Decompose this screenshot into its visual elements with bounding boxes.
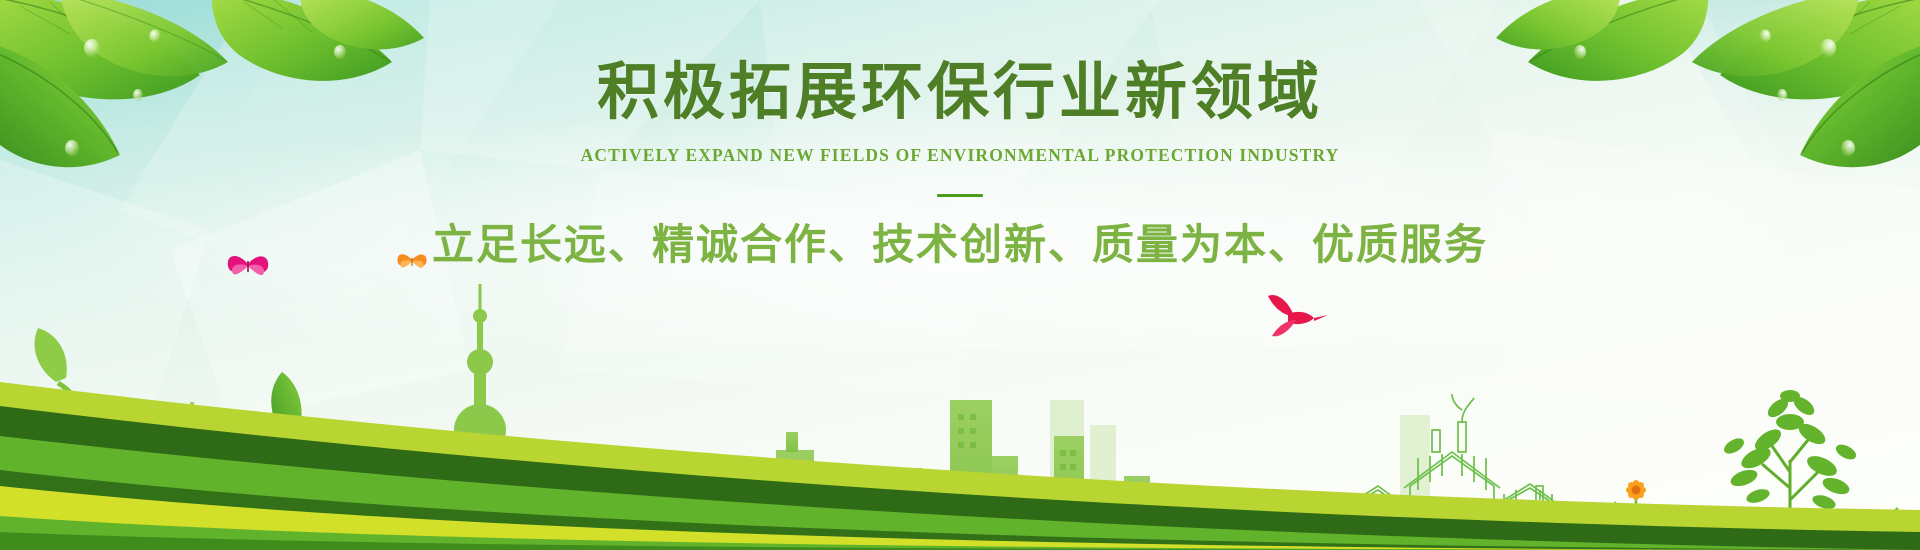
line-art-house (1334, 394, 1566, 550)
page-title: 积极拓展环保行业新领域 (0, 58, 1920, 129)
wave-bands (0, 320, 1920, 550)
skyline-far (300, 400, 1430, 550)
sprout-plant-left (35, 328, 136, 550)
pink-flower-small (879, 521, 893, 550)
wave-band-darkgreen (0, 406, 1920, 550)
house-base-solid (1338, 516, 1566, 550)
orange-flower-left (213, 512, 231, 550)
slogan-text: 立足长远、精诚合作、技术创新、质量为本、优质服务 (0, 221, 1920, 271)
subtitle-english: ACTIVELY EXPAND NEW FIELDS OF ENVIRONMEN… (0, 145, 1920, 166)
wave-band-green (0, 436, 1920, 550)
building-windows-center (958, 414, 1076, 470)
sprout-plant-center-left (254, 372, 348, 550)
wave-band-darkgreen-2 (0, 470, 1920, 550)
bicycle-silhouette (338, 452, 482, 546)
grass-seedheads-left (102, 465, 167, 550)
banner-text-block: 积极拓展环保行业新领域 ACTIVELY EXPAND NEW FIELDS O… (0, 58, 1920, 272)
wave-band-yellow (0, 486, 1920, 550)
tree-right (1721, 390, 1858, 550)
divider-rule (937, 194, 983, 197)
grass-tufts (1250, 502, 1910, 550)
environmental-protection-banner: 积极拓展环保行业新领域 ACTIVELY EXPAND NEW FIELDS O… (0, 0, 1920, 550)
hummingbird-red (1268, 295, 1328, 336)
house-base-windows (1424, 526, 1531, 538)
dandelion-sprays (561, 449, 642, 550)
building-windows-left (244, 472, 258, 499)
wave-band-green-3 (0, 532, 1920, 550)
oriental-pearl-tower-silhouette (454, 284, 506, 550)
ladybug (1013, 526, 1027, 546)
city-buildings-left (140, 402, 309, 550)
wave-band-green-2 (0, 516, 1920, 550)
city-buildings-midleft (470, 472, 576, 550)
city-skyline-center (700, 400, 1186, 550)
wave-band-yellowgreen (0, 382, 1920, 550)
small-plants-center (666, 489, 1200, 550)
scenery-layer (0, 250, 1920, 550)
sunflower-right (1625, 479, 1646, 550)
